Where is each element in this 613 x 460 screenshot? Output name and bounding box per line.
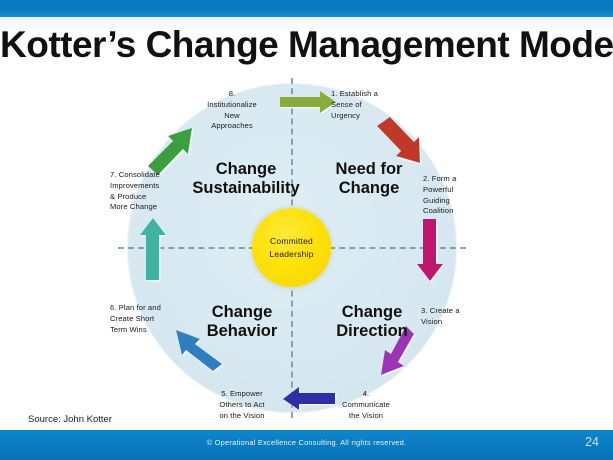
- step-label-1: 1. Establish a Sense of Urgency: [331, 89, 411, 121]
- hub-line-2: Leadership: [269, 248, 313, 260]
- quadrant-change-direction: Change Direction: [320, 303, 424, 341]
- source-note: Source: John Kotter: [28, 414, 112, 425]
- quadrant-change-behavior: Change Behavior: [186, 303, 298, 341]
- bottom-accent-band: © Operational Excellence Consulting. All…: [0, 430, 613, 460]
- step-label-5: 5. Empower Others to Act on the Vision: [200, 389, 284, 421]
- arrow-step-1-to-2: [377, 117, 420, 163]
- arrow-step-6-to-7: [140, 218, 166, 280]
- diagram-stage: Committed Leadership Need for Change Cha…: [0, 78, 613, 408]
- quadrant-change-sustainability: Change Sustainability: [191, 160, 301, 198]
- arrow-step-8-to-1: [280, 91, 336, 113]
- slide-canvas: Kotter’s Change Management Model: [0, 0, 613, 460]
- step-label-8: 8. Institutionalize New Approaches: [190, 89, 274, 132]
- step-label-7: 7. Consolidate Improvements & Produce Mo…: [110, 170, 194, 213]
- page-number: 24: [585, 435, 599, 449]
- top-accent-band: [0, 0, 613, 17]
- quadrant-need-for-change: Need for Change: [322, 160, 416, 198]
- step-label-2: 2. Form a Powerful Guiding Coalition: [423, 174, 489, 217]
- step-label-3: 3. Create a Vision: [421, 306, 487, 328]
- arrow-step-7-to-8: [148, 128, 192, 175]
- arrow-step-2-to-3: [417, 219, 443, 281]
- copyright-text: © Operational Excellence Consulting. All…: [0, 438, 613, 447]
- hub-line-1: Committed: [270, 235, 313, 247]
- step-label-4: 4. Communicate the Vision: [326, 389, 406, 421]
- step-label-6: 6. Plan for and Create Short Term Wins: [110, 303, 194, 335]
- page-title: Kotter’s Change Management Model: [0, 24, 613, 66]
- center-hub: Committed Leadership: [252, 208, 331, 287]
